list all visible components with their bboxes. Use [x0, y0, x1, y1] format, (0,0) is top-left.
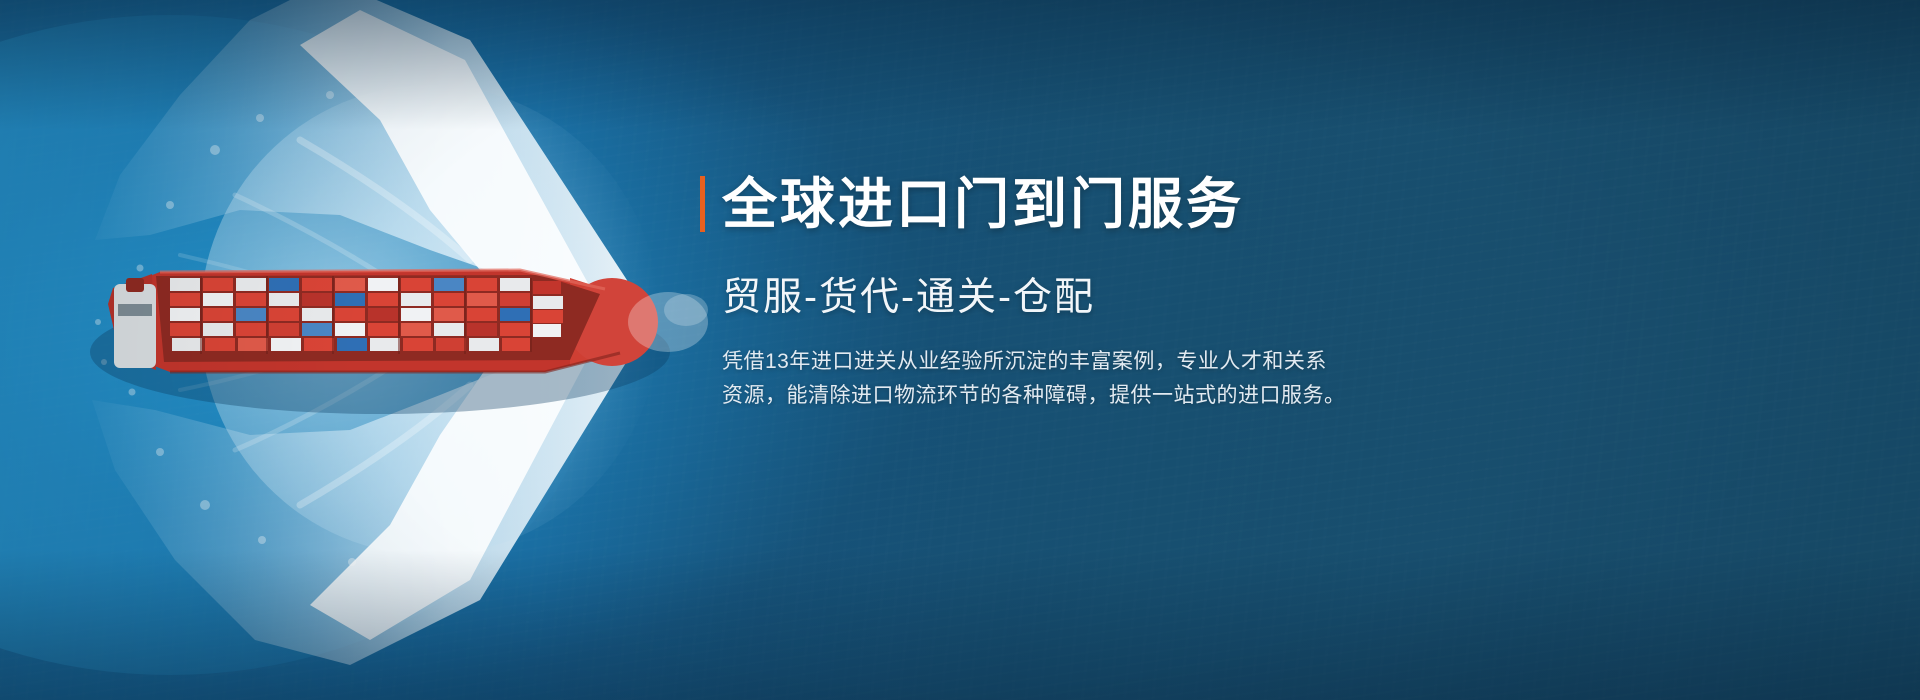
body-copy-line: 凭借13年进口进关从业经验所沉淀的丰富案例，专业人才和关系 [722, 345, 1442, 379]
hero-banner: 全球进口门到门服务 贸服-货代-通关-仓配 凭借13年进口进关从业经验所沉淀的丰… [0, 0, 1920, 700]
banner-headline: 全球进口门到门服务 [722, 177, 1244, 232]
accent-bar-icon [700, 176, 705, 232]
banner-copy: 全球进口门到门服务 贸服-货代-通关-仓配 凭借13年进口进关从业经验所沉淀的丰… [700, 168, 1460, 434]
headline-row: 全球进口门到门服务 [700, 168, 1460, 240]
body-copy-line: 资源，能清除进口物流环节的各种障碍，提供一站式的进口服务。 [722, 379, 1442, 413]
banner-subheadline: 贸服-货代-通关-仓配 [722, 278, 1460, 317]
banner-body-copy: 凭借13年进口进关从业经验所沉淀的丰富案例，专业人才和关系 资源，能清除进口物流… [722, 345, 1442, 413]
